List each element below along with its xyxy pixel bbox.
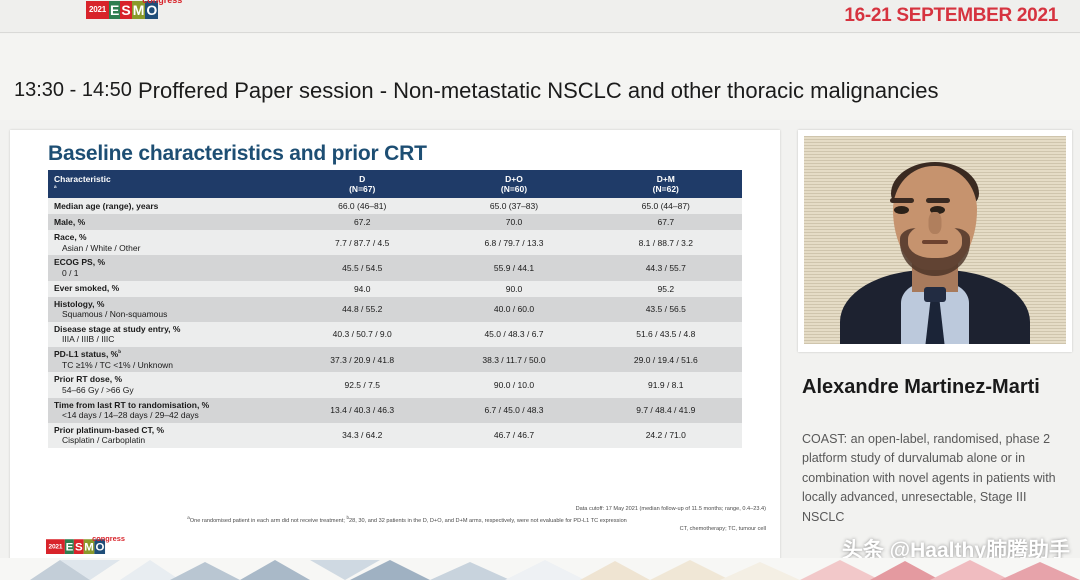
row-value-cell: 65.0 (37–83): [438, 198, 589, 214]
row-value-cell: 67.2: [286, 214, 438, 230]
row-label-cell: Disease stage at study entry, %IIIA / II…: [48, 322, 286, 347]
footnote-a-text: One randomised patient in each arm did n…: [190, 518, 347, 524]
table-row: Time from last RT to randomisation, %<14…: [48, 398, 742, 423]
row-value-cell: 9.7 / 48.4 / 41.9: [590, 398, 742, 423]
esmo-slide-letter-s: S: [74, 539, 83, 554]
esmo-congress-logo-icon: 2021 E S M O congress: [86, 1, 158, 19]
row-value-cell: 51.6 / 43.5 / 4.8: [590, 322, 742, 347]
speaker-mouth: [922, 240, 948, 244]
table-body: Median age (range), years66.0 (46–81)65.…: [48, 198, 742, 448]
row-label-main: Histology, %: [54, 299, 280, 310]
footnote-b-text: 28, 30, and 32 patients in the D, D+O, a…: [349, 518, 627, 524]
row-label-cell: ECOG PS, %0 / 1: [48, 255, 286, 280]
table-col-characteristic: Characteristica: [48, 170, 286, 198]
row-value-cell: 95.2: [590, 281, 742, 297]
speaker-eye-left: [894, 206, 909, 214]
row-value-cell: 90.0: [438, 281, 589, 297]
esmo-congress-logo-slide-icon: 2021 E S M O congress: [46, 539, 105, 554]
col-dm-n: (N=62): [596, 184, 736, 194]
row-value-cell: 6.8 / 79.7 / 13.3: [438, 230, 589, 255]
row-label-main: Ever smoked, %: [54, 283, 280, 294]
table-row: Prior RT dose, %54–66 Gy / >66 Gy92.5 / …: [48, 372, 742, 397]
row-value-cell: 6.7 / 45.0 / 48.3: [438, 398, 589, 423]
footnote-abbreviations: CT, chemotherapy; TC, tumour cell: [48, 525, 766, 534]
speaker-tie-knot: [924, 287, 946, 302]
col-do-label: D+O: [444, 174, 583, 184]
row-label-sub: <14 days / 14–28 days / 29–42 days: [54, 410, 280, 421]
session-title-label: Proffered Paper session - Non-metastatic…: [138, 78, 939, 104]
row-value-cell: 44.3 / 55.7: [590, 255, 742, 280]
row-label-sup: b: [118, 349, 121, 354]
col-do-n: (N=60): [444, 184, 583, 194]
row-label-sub: Cisplatin / Carboplatin: [54, 435, 280, 446]
table-row: Race, %Asian / White / Other7.7 / 87.7 /…: [48, 230, 742, 255]
row-label-main: Disease stage at study entry, %: [54, 324, 280, 335]
session-bar: 13:30 - 14:50 Proffered Paper session - …: [0, 34, 1080, 120]
row-label-cell: Time from last RT to randomisation, %<14…: [48, 398, 286, 423]
col-dm-label: D+M: [596, 174, 736, 184]
top-header-bar: 2021 E S M O congress 16-21 SEPTEMBER 20…: [0, 0, 1080, 33]
slide-title: Baseline characteristics and prior CRT: [48, 142, 427, 166]
row-label-cell: PD-L1 status, %bTC ≥1% / TC <1% / Unknow…: [48, 347, 286, 372]
row-value-cell: 37.3 / 20.9 / 41.8: [286, 347, 438, 372]
table-header-row: Characteristica D (N=67) D+O (N=60) D+M …: [48, 170, 742, 198]
row-value-cell: 7.7 / 87.7 / 4.5: [286, 230, 438, 255]
esmo-logo-congress-word: congress: [142, 0, 182, 5]
row-value-cell: 46.7 / 46.7: [438, 423, 589, 448]
row-value-cell: 45.5 / 54.5: [286, 255, 438, 280]
table-head: Characteristica D (N=67) D+O (N=60) D+M …: [48, 170, 742, 198]
table-row: ECOG PS, %0 / 145.5 / 54.555.9 / 44.144.…: [48, 255, 742, 280]
speaker-name: Alexandre Martinez-Marti: [802, 376, 1064, 400]
row-value-cell: 24.2 / 71.0: [590, 423, 742, 448]
table-row: PD-L1 status, %bTC ≥1% / TC <1% / Unknow…: [48, 347, 742, 372]
speaker-nose: [929, 212, 942, 234]
row-value-cell: 40.0 / 60.0: [438, 297, 589, 322]
row-value-cell: 38.3 / 11.7 / 50.0: [438, 347, 589, 372]
speaker-eyebrow-left: [890, 198, 914, 203]
speaker-panel: Alexandre Martinez-Marti COAST: an open-…: [790, 130, 1080, 560]
col-characteristic-label: Characteristic: [54, 174, 280, 184]
row-label-main: Median age (range), years: [54, 201, 280, 212]
speaker-eyebrow-right: [926, 198, 950, 203]
row-value-cell: 45.0 / 48.3 / 6.7: [438, 322, 589, 347]
esmo-letter-s: S: [120, 1, 131, 19]
row-label-sub: Squamous / Non-squamous: [54, 309, 280, 320]
row-label-cell: Race, %Asian / White / Other: [48, 230, 286, 255]
presentation-slide[interactable]: Baseline characteristics and prior CRT C…: [10, 130, 780, 560]
row-label-main: Prior RT dose, %: [54, 374, 280, 385]
table-row: Prior platinum-based CT, %Cisplatin / Ca…: [48, 423, 742, 448]
table-row: Male, %67.270.067.7: [48, 214, 742, 230]
row-label-cell: Prior platinum-based CT, %Cisplatin / Ca…: [48, 423, 286, 448]
footnote-data-cutoff: Data cutoff: 17 May 2021 (median follow-…: [48, 505, 766, 514]
row-label-main: ECOG PS, %: [54, 257, 280, 268]
row-value-cell: 13.4 / 40.3 / 46.3: [286, 398, 438, 423]
row-label-sub: Asian / White / Other: [54, 243, 280, 254]
row-value-cell: 44.8 / 55.2: [286, 297, 438, 322]
table-row: Disease stage at study entry, %IIIA / II…: [48, 322, 742, 347]
row-label-main: PD-L1 status, %b: [54, 349, 280, 360]
row-value-cell: 92.5 / 7.5: [286, 372, 438, 397]
row-label-sub: 0 / 1: [54, 268, 280, 279]
congress-date-label: 16-21 SEPTEMBER 2021: [844, 5, 1058, 27]
esmo-slide-logo-year: 2021: [46, 539, 65, 554]
row-value-cell: 8.1 / 88.7 / 3.2: [590, 230, 742, 255]
row-value-cell: 43.5 / 56.5: [590, 297, 742, 322]
talk-title: COAST: an open-label, randomised, phase …: [802, 430, 1066, 527]
footnote-treatment-note: aOne randomised patient in each arm did …: [48, 514, 766, 526]
row-label-main: Prior platinum-based CT, %: [54, 425, 280, 436]
table-col-d-plus-o: D+O (N=60): [438, 170, 589, 198]
esmo-letter-e: E: [109, 1, 120, 19]
row-value-cell: 67.7: [590, 214, 742, 230]
row-value-cell: 40.3 / 50.7 / 9.0: [286, 322, 438, 347]
row-label-cell: Ever smoked, %: [48, 281, 286, 297]
row-value-cell: 65.0 (44–87): [590, 198, 742, 214]
col-d-n: (N=67): [292, 184, 432, 194]
row-value-cell: 94.0: [286, 281, 438, 297]
table-col-d-plus-m: D+M (N=62): [590, 170, 742, 198]
row-value-cell: 29.0 / 19.4 / 51.6: [590, 347, 742, 372]
col-d-label: D: [292, 174, 432, 184]
col-characteristic-sup: a: [54, 184, 57, 189]
decorative-bottom-strip: [0, 558, 1080, 580]
row-value-cell: 91.9 / 8.1: [590, 372, 742, 397]
table-row: Histology, %Squamous / Non-squamous44.8 …: [48, 297, 742, 322]
row-label-cell: Male, %: [48, 214, 286, 230]
speaker-video-frame[interactable]: [798, 130, 1072, 352]
row-label-main: Time from last RT to randomisation, %: [54, 400, 280, 411]
triangle-pattern-icon: [0, 558, 1080, 580]
row-value-cell: 66.0 (46–81): [286, 198, 438, 214]
speaker-video-feed[interactable]: [804, 136, 1066, 344]
esmo-logo-year: 2021: [86, 1, 109, 19]
table-col-d: D (N=67): [286, 170, 438, 198]
row-label-cell: Prior RT dose, %54–66 Gy / >66 Gy: [48, 372, 286, 397]
row-value-cell: 70.0: [438, 214, 589, 230]
table-row: Ever smoked, %94.090.095.2: [48, 281, 742, 297]
row-label-sub: TC ≥1% / TC <1% / Unknown: [54, 360, 280, 371]
row-label-main: Race, %: [54, 232, 280, 243]
row-label-sub: IIIA / IIIB / IIIC: [54, 334, 280, 345]
baseline-characteristics-table: Characteristica D (N=67) D+O (N=60) D+M …: [48, 170, 742, 448]
esmo-slide-logo-congress-word: congress: [92, 534, 125, 542]
row-label-cell: Histology, %Squamous / Non-squamous: [48, 297, 286, 322]
row-value-cell: 34.3 / 64.2: [286, 423, 438, 448]
session-time-label: 13:30 - 14:50: [14, 79, 132, 102]
row-value-cell: 55.9 / 44.1: [438, 255, 589, 280]
row-value-cell: 90.0 / 10.0: [438, 372, 589, 397]
row-label-main: Male, %: [54, 217, 280, 228]
row-label-sub: 54–66 Gy / >66 Gy: [54, 385, 280, 396]
table-row: Median age (range), years66.0 (46–81)65.…: [48, 198, 742, 214]
esmo-slide-letter-e: E: [65, 539, 74, 554]
slide-footnotes: Data cutoff: 17 May 2021 (median follow-…: [48, 505, 766, 534]
row-label-cell: Median age (range), years: [48, 198, 286, 214]
